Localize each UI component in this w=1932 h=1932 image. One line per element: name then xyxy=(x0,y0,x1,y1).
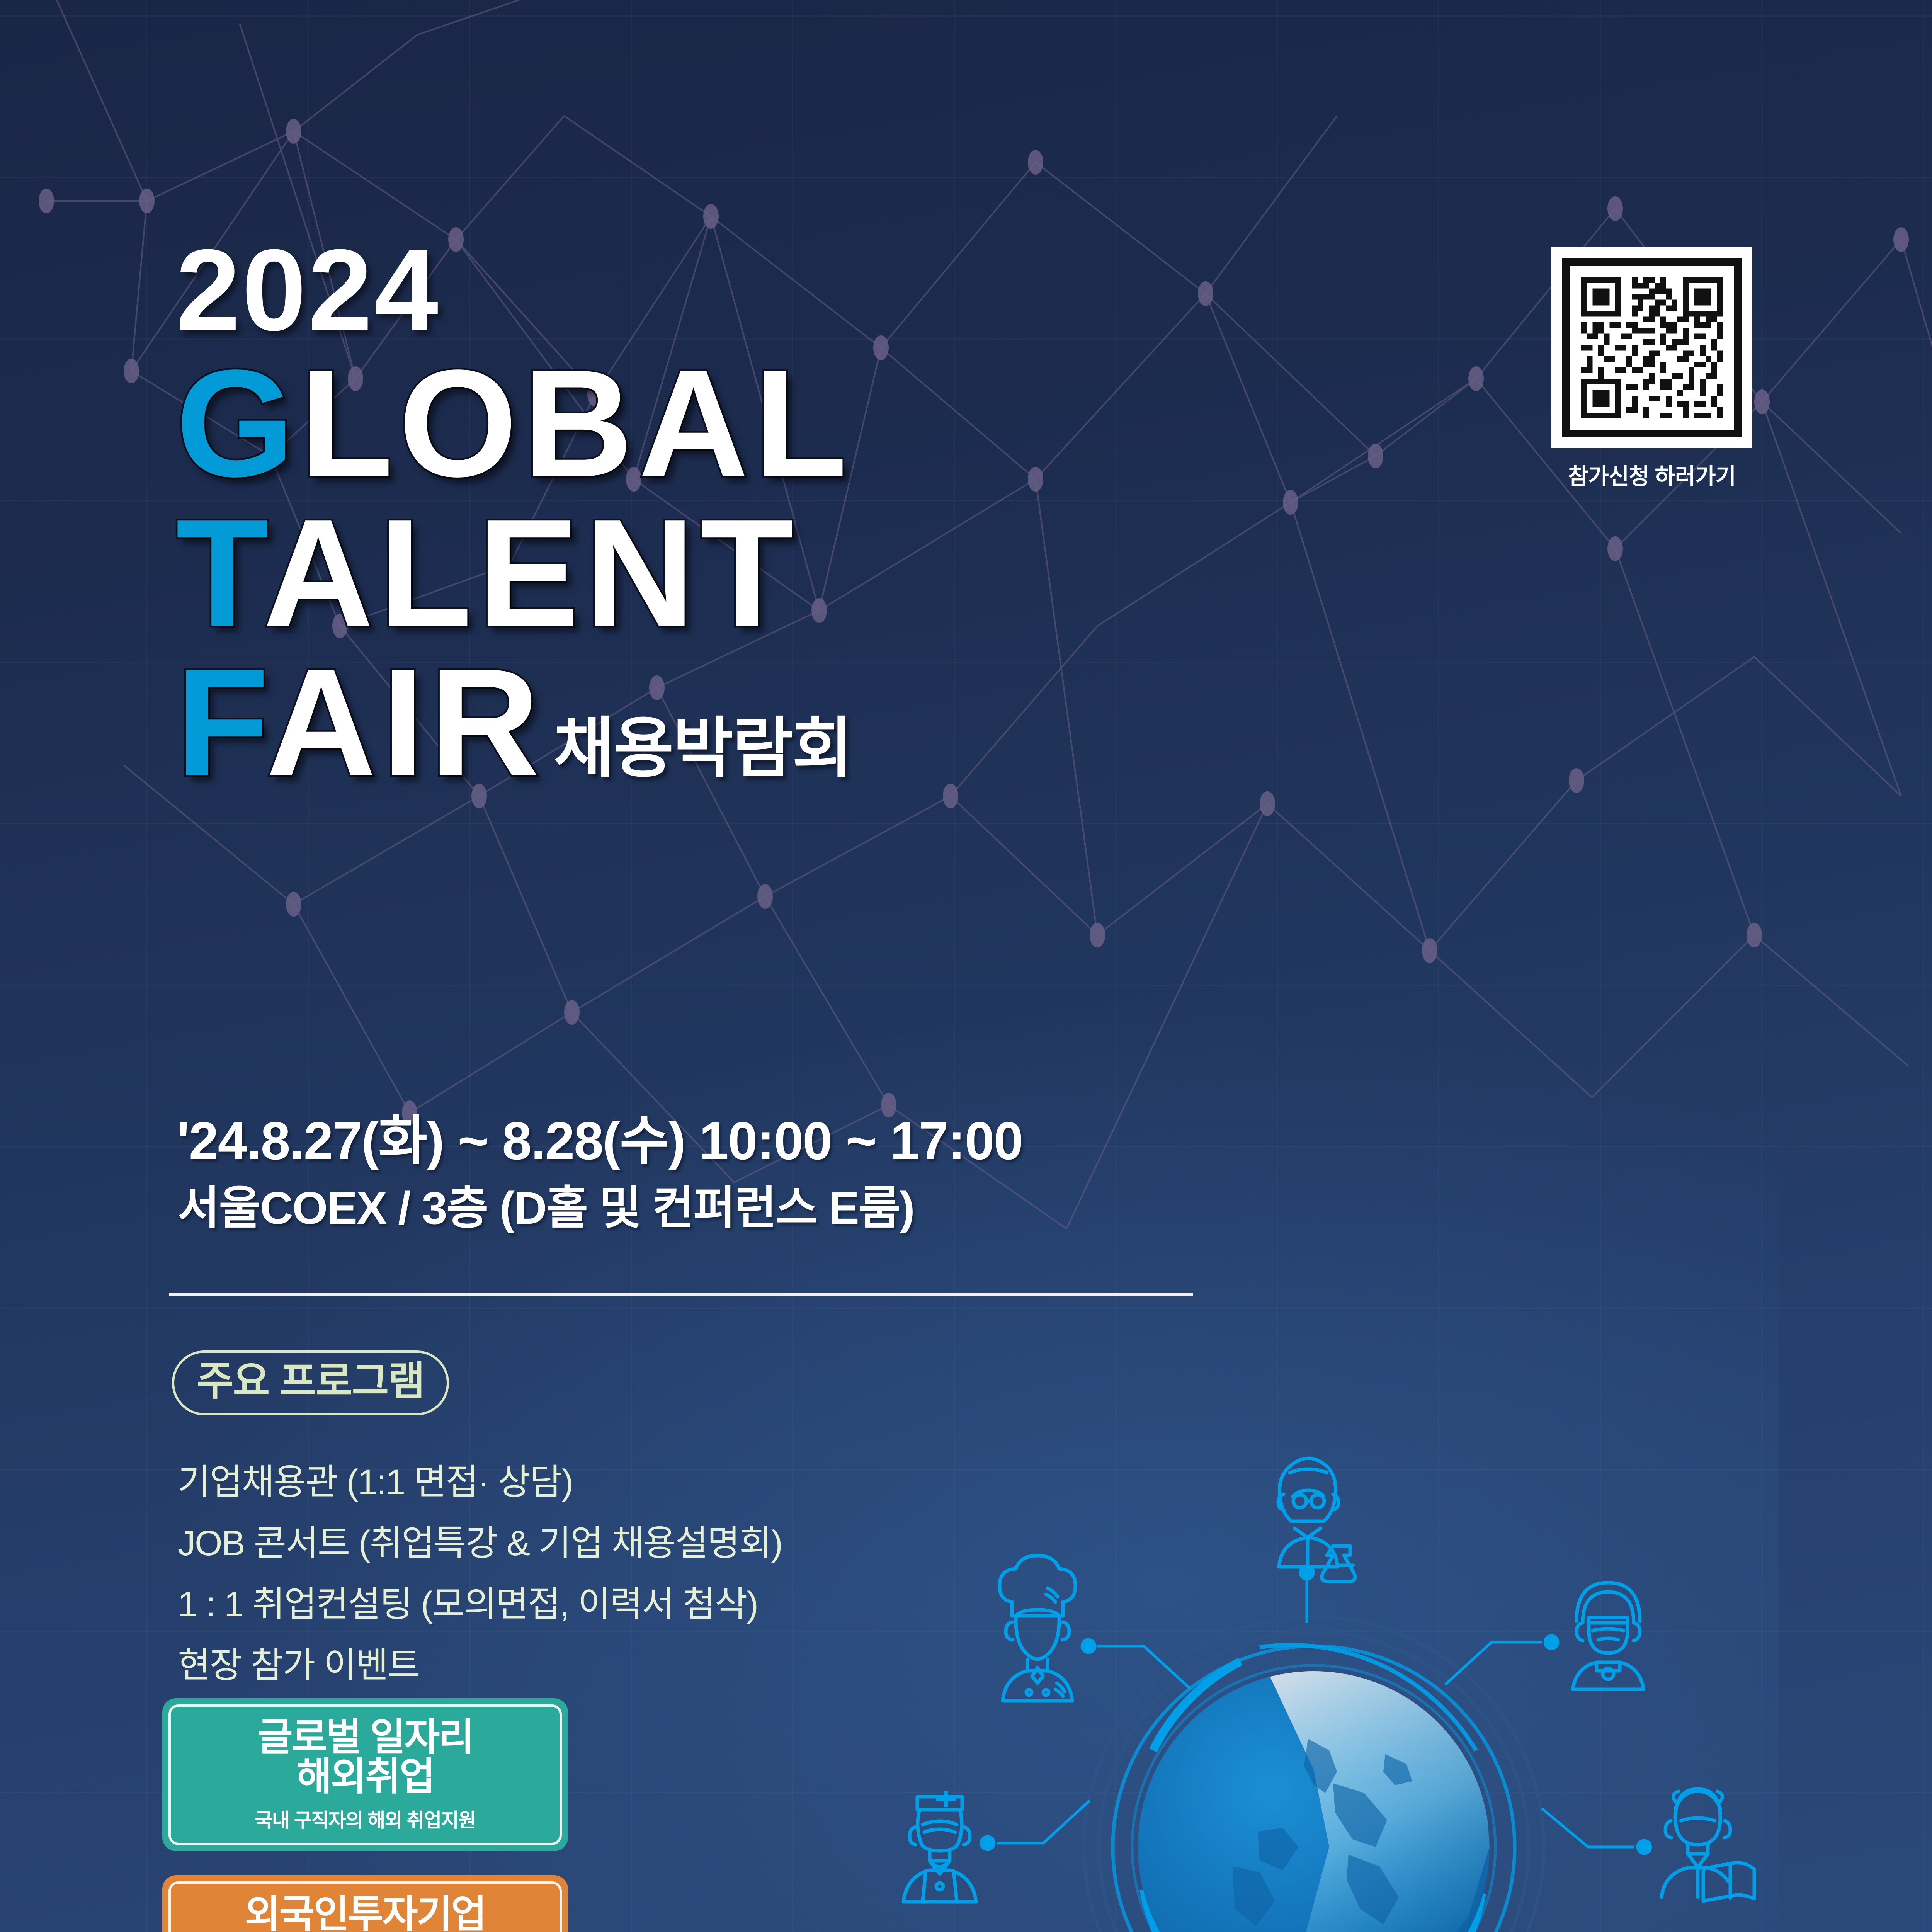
qr-caption: 참가신청 하러가기 xyxy=(1544,458,1760,491)
chef-icon xyxy=(1000,1556,1075,1701)
initial-g: G xyxy=(176,338,300,509)
teacher-icon xyxy=(1662,1789,1754,1901)
event-datetime: '24.8.27(화) ~ 8.28(수) 10:00 ~ 17:00 xyxy=(177,1097,1022,1175)
track-title-line1: 외국인투자기업 xyxy=(179,1895,552,1932)
qr-matrix xyxy=(1570,266,1734,430)
track-boxes: 글로벌 일자리 해외취업 국내 구직자의 해외 취업지원 외국인투자기업 채용 … xyxy=(162,1698,568,1932)
qr-block[interactable]: 참가신청 하러가기 xyxy=(1544,247,1760,491)
globe-scene xyxy=(850,1391,1893,1932)
title-fair-rest: AIR xyxy=(266,637,545,808)
section-divider xyxy=(169,1293,1193,1296)
track-title-line2: 해외취업 xyxy=(179,1757,552,1796)
globe-illustration xyxy=(850,1391,1893,1932)
title-global-rest: LOBAL xyxy=(300,338,852,509)
initial-f: F xyxy=(176,637,266,808)
program-pill: 주요 프로그램 xyxy=(172,1350,449,1415)
title-line-talent: TALENT xyxy=(176,499,1490,647)
initial-t: T xyxy=(176,487,263,658)
title-talent-rest: ALENT xyxy=(263,487,799,658)
title-line-fair: FAIR 채용박람회 xyxy=(176,648,1490,796)
track-box-global-job: 글로벌 일자리 해외취업 국내 구직자의 해외 취업지원 xyxy=(162,1698,568,1851)
track-box-fdi-hiring: 외국인투자기업 채용 국내 외국인투자기업의 채용지원 xyxy=(162,1875,568,1932)
event-venue: 서울COEX / 3층 (D홀 및 컨퍼런스 E룸) xyxy=(178,1171,914,1237)
welder-mask-icon xyxy=(1573,1583,1644,1689)
poster-root: 참가신청 하러가기 2024 GLOBAL TALENT FAIR 채용박람회 … xyxy=(0,0,1932,1932)
korean-subtitle: 채용박람회 xyxy=(554,717,852,797)
qr-code[interactable] xyxy=(1551,247,1752,448)
headline-block: 2024 GLOBAL TALENT FAIR 채용박람회 xyxy=(176,232,1490,796)
scientist-icon xyxy=(1278,1458,1355,1582)
track-title-line1: 글로벌 일자리 xyxy=(179,1718,552,1757)
year-label: 2024 xyxy=(176,232,1490,348)
nurse-icon xyxy=(903,1791,976,1902)
title-line-global: GLOBAL xyxy=(176,349,1490,497)
track-subtitle: 국내 구직자의 해외 취업지원 xyxy=(179,1805,552,1833)
